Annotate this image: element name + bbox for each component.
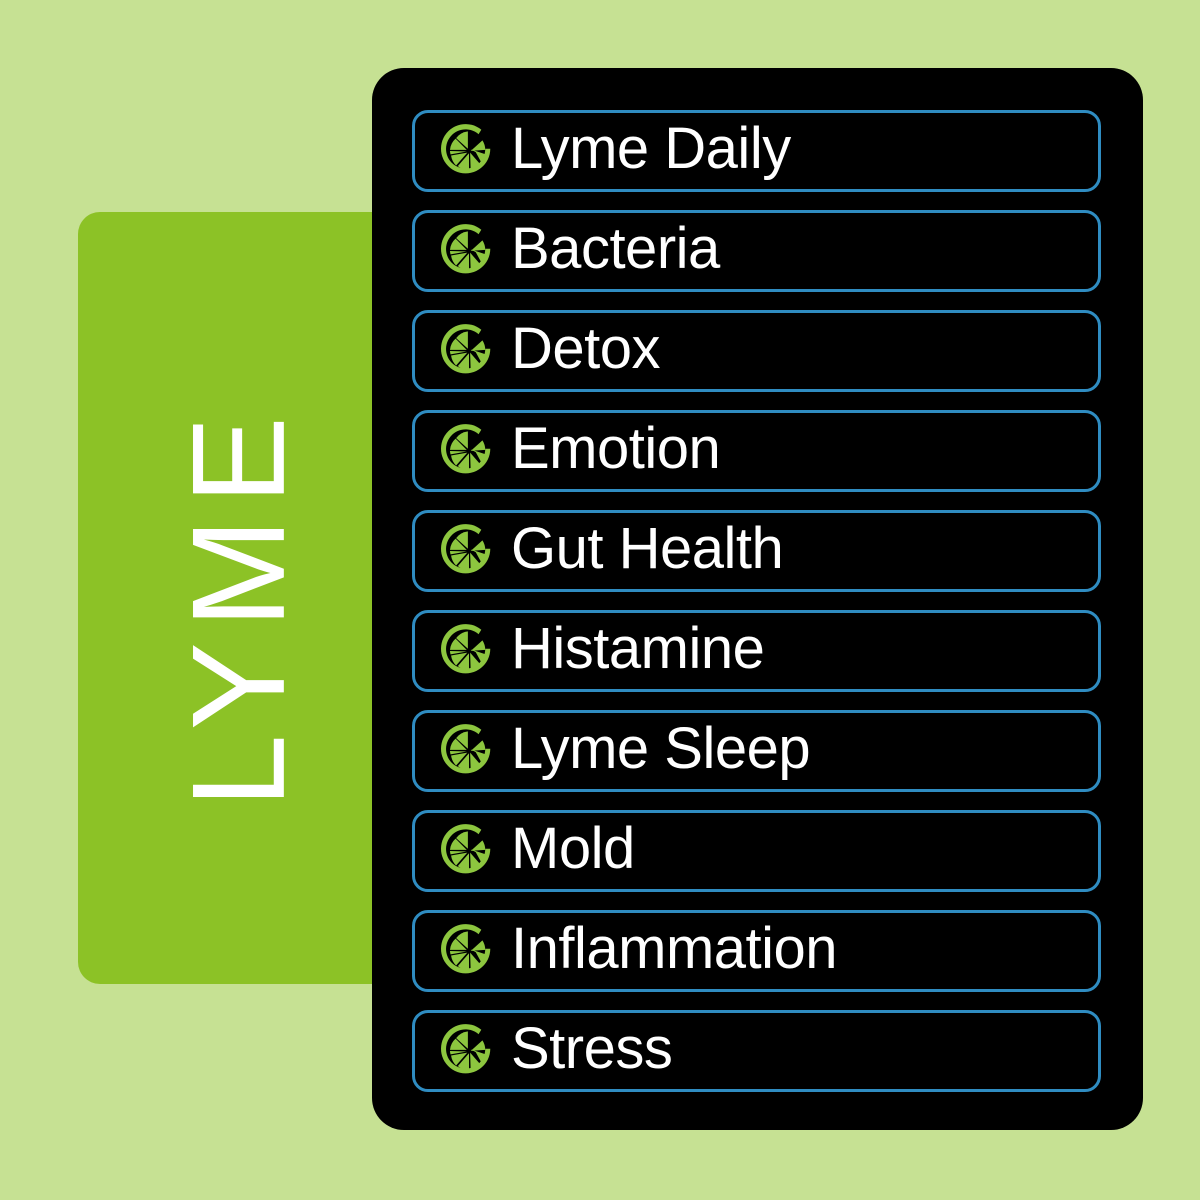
lime-slice-icon: [441, 623, 497, 679]
menu-item-label: Lyme Daily: [511, 120, 791, 178]
lime-slice-icon: [441, 1023, 497, 1079]
lime-slice-icon: [441, 123, 497, 179]
menu-item-label: Emotion: [511, 420, 720, 478]
brand-panel: LYME: [78, 212, 400, 984]
menu-item[interactable]: Stress: [412, 1010, 1101, 1092]
lime-slice-icon: [441, 723, 497, 779]
menu-item-label: Bacteria: [511, 220, 720, 278]
menu-item[interactable]: Emotion: [412, 410, 1101, 492]
menu-card: Lyme Daily Bacteria Detox: [372, 68, 1143, 1130]
lime-slice-icon: [441, 823, 497, 879]
menu-item[interactable]: Lyme Daily: [412, 110, 1101, 192]
menu-list: Lyme Daily Bacteria Detox: [412, 110, 1101, 1092]
menu-item-label: Stress: [511, 1020, 672, 1078]
menu-item-label: Histamine: [511, 620, 764, 678]
lime-slice-icon: [441, 923, 497, 979]
menu-item[interactable]: Lyme Sleep: [412, 710, 1101, 792]
menu-item-label: Lyme Sleep: [511, 720, 810, 778]
menu-item[interactable]: Inflammation: [412, 910, 1101, 992]
lime-slice-icon: [441, 523, 497, 579]
app-root: LYME Lyme Daily: [0, 0, 1200, 1200]
menu-item-label: Mold: [511, 820, 635, 878]
menu-item[interactable]: Gut Health: [412, 510, 1101, 592]
menu-item[interactable]: Histamine: [412, 610, 1101, 692]
lime-slice-icon: [441, 423, 497, 479]
menu-item[interactable]: Mold: [412, 810, 1101, 892]
menu-item-label: Gut Health: [511, 520, 783, 578]
menu-item[interactable]: Detox: [412, 310, 1101, 392]
menu-item-label: Inflammation: [511, 920, 837, 978]
menu-item-label: Detox: [511, 320, 660, 378]
page-title: LYME: [78, 212, 400, 984]
lime-slice-icon: [441, 323, 497, 379]
menu-item[interactable]: Bacteria: [412, 210, 1101, 292]
brand-title-text: LYME: [173, 388, 305, 808]
lime-slice-icon: [441, 223, 497, 279]
